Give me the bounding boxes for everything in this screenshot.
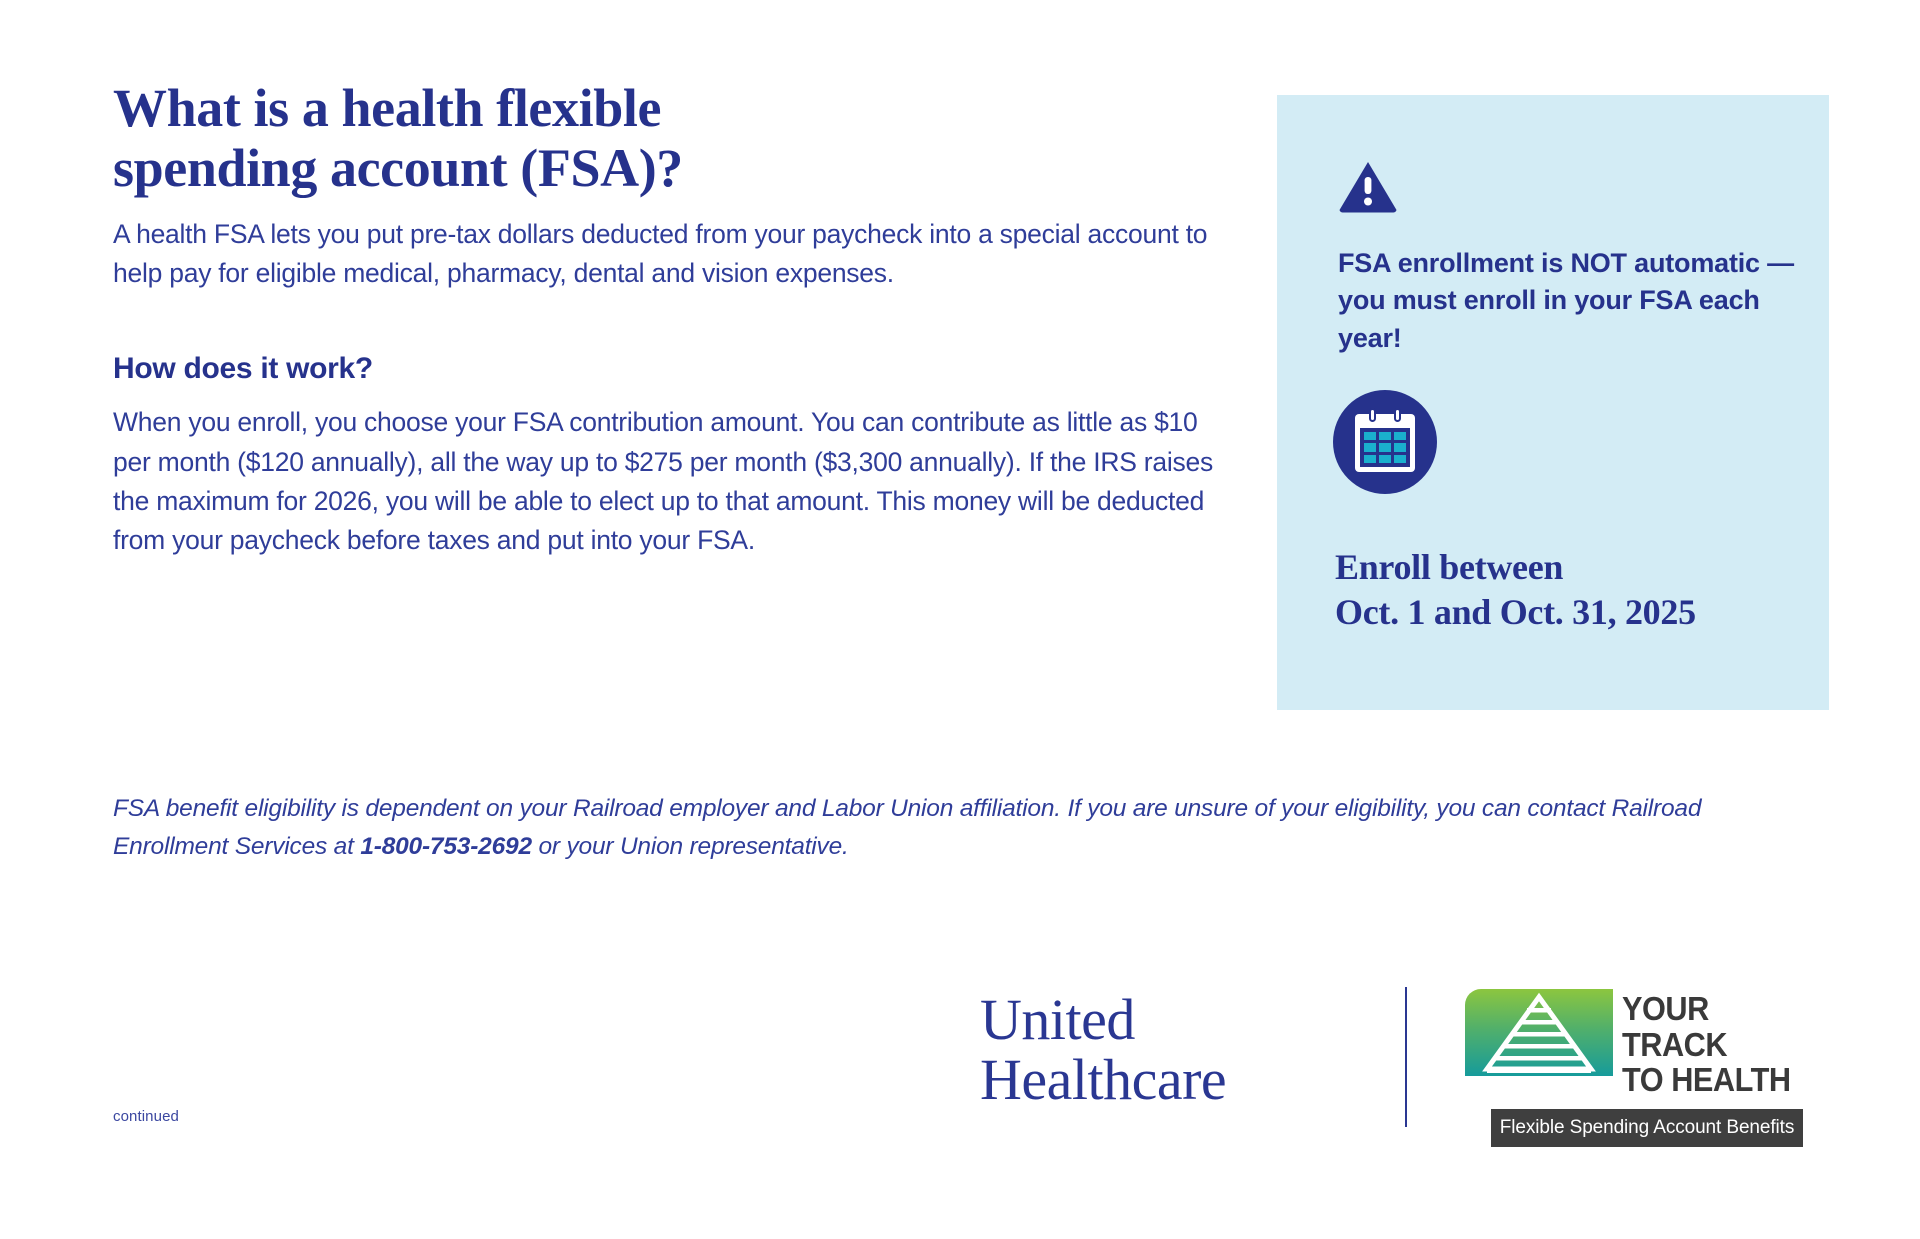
intro-paragraph: A health FSA lets you put pre-tax dollar… — [113, 215, 1213, 293]
railroad-track-icon — [1465, 989, 1613, 1076]
warning-triangle-icon — [1338, 160, 1398, 214]
calendar-cell — [1379, 455, 1391, 463]
calendar-cell — [1379, 443, 1391, 451]
calendar-cell — [1379, 432, 1391, 440]
logo-divider — [1405, 987, 1407, 1127]
ytth-wordmark: YOUR TRACK TO HEALTH — [1622, 989, 1806, 1098]
calendar-cell — [1394, 455, 1406, 463]
calendar-cell — [1364, 455, 1376, 463]
disclaimer-text-part1: FSA benefit eligibility is dependent on … — [113, 795, 1701, 860]
enroll-heading: Enroll between — [1335, 545, 1805, 590]
how-it-works-paragraph: When you enroll, you choose your FSA con… — [113, 403, 1213, 560]
footer-logo-group: United Healthcare YOUR TRACK TO HEALTH F… — [980, 985, 1840, 1150]
main-content-column: What is a health flexible spending accou… — [113, 78, 1213, 560]
calendar-cell — [1364, 443, 1376, 451]
callout-alert-text: FSA enrollment is NOT automatic — you mu… — [1338, 245, 1798, 357]
calendar-icon — [1333, 390, 1437, 494]
ytth-logo-top-row: YOUR TRACK TO HEALTH — [1465, 989, 1820, 1098]
ytth-tagline-banner: Flexible Spending Account Benefits — [1491, 1109, 1803, 1147]
unitedhealthcare-logo: United Healthcare — [980, 990, 1226, 1109]
disclaimer-phone-number: 1-800-753-2692 — [360, 833, 532, 860]
eligibility-disclaimer: FSA benefit eligibility is dependent on … — [113, 790, 1793, 866]
calendar-ring-right — [1394, 408, 1401, 422]
section-heading-how-does-it-work: How does it work? — [113, 351, 1213, 387]
calendar-cell — [1394, 443, 1406, 451]
uhc-logo-line-1: United — [980, 990, 1226, 1050]
calendar-body — [1355, 414, 1415, 472]
page-title: What is a health flexible spending accou… — [113, 78, 833, 199]
calendar-cell — [1394, 432, 1406, 440]
enroll-period-text: Enroll between Oct. 1 and Oct. 31, 2025 — [1335, 545, 1805, 635]
calendar-cell — [1364, 432, 1376, 440]
uhc-logo-line-2: Healthcare — [980, 1050, 1226, 1110]
continued-label: continued — [113, 1108, 179, 1125]
enrollment-callout-box: FSA enrollment is NOT automatic — you mu… — [1277, 95, 1829, 710]
enroll-dates-line: Oct. 1 and Oct. 31, 2025 — [1335, 590, 1805, 635]
calendar-grid — [1360, 428, 1410, 467]
calendar-ring-left — [1369, 408, 1376, 422]
railroad-track-svg — [1465, 989, 1613, 1076]
your-track-to-health-logo: YOUR TRACK TO HEALTH Flexible Spending A… — [1465, 989, 1820, 1147]
disclaimer-text-part2: or your Union representative. — [532, 833, 849, 860]
